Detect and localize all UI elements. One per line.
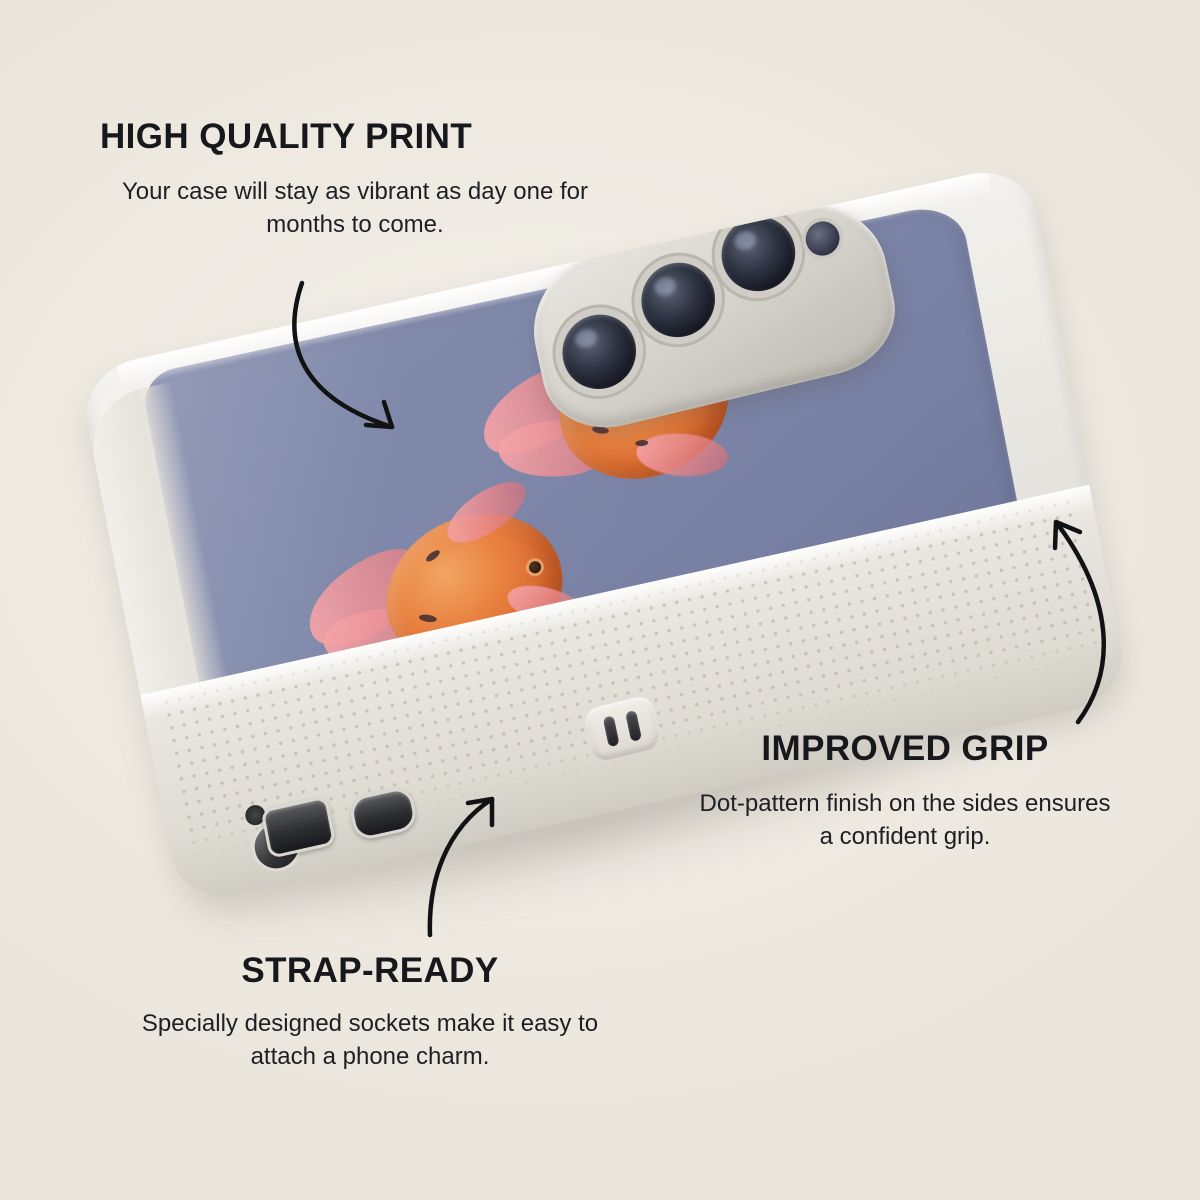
infographic-canvas: BURGA bbox=[0, 0, 1200, 1200]
feature-title: STRAP-READY bbox=[130, 952, 610, 991]
camera-lens bbox=[635, 255, 722, 345]
strap-socket-hole bbox=[625, 710, 642, 742]
feature-improved-grip: IMPROVED GRIP Dot-pattern finish on the … bbox=[690, 730, 1120, 853]
feature-strap-ready: STRAP-READY Specially designed sockets m… bbox=[130, 952, 610, 1073]
camera-lens bbox=[556, 307, 643, 397]
feature-title: HIGH QUALITY PRINT bbox=[100, 118, 610, 157]
camera-flash bbox=[803, 218, 843, 259]
strap-socket-hole bbox=[603, 715, 620, 747]
feature-high-quality-print: HIGH QUALITY PRINT Your case will stay a… bbox=[100, 118, 610, 241]
feature-description: Specially designed sockets make it easy … bbox=[130, 1007, 610, 1073]
feature-description: Your case will stay as vibrant as day on… bbox=[100, 175, 610, 241]
feature-title: IMPROVED GRIP bbox=[690, 730, 1120, 769]
feature-description: Dot-pattern finish on the sides ensures … bbox=[690, 787, 1120, 853]
usb-port bbox=[348, 785, 419, 842]
camera-lens bbox=[715, 209, 802, 299]
speaker-port bbox=[260, 795, 336, 859]
